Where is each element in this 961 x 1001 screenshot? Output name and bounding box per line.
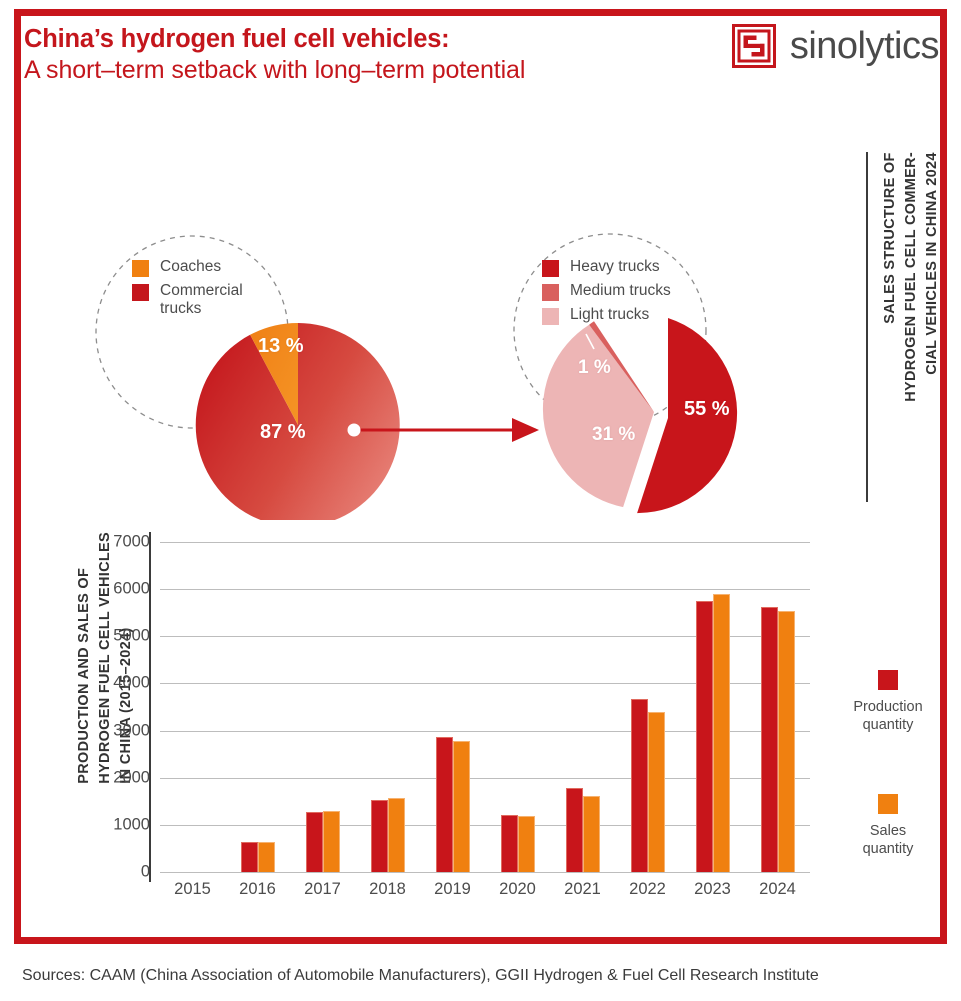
swatch-production-icon [878, 670, 898, 690]
x-axis-tick-label: 2017 [304, 880, 341, 899]
x-axis-tick-label: 2018 [369, 880, 406, 899]
bar-chart-section: PRODUCTION AND SALES OF HYDROGEN FUEL CE… [0, 520, 919, 920]
pie-exploded-group [543, 321, 654, 507]
swatch-light-trucks-icon [542, 308, 559, 325]
bar-production-2017 [306, 812, 323, 872]
bar-sales-2023 [713, 594, 730, 872]
pie-connector-dot [348, 424, 361, 437]
pct-label-heavy-trucks: 55 % [684, 398, 730, 421]
x-axis-tick-label: 2022 [629, 880, 666, 899]
y-axis-tick-label: 7000 [90, 533, 160, 552]
x-axis-tick-label: 2020 [499, 880, 536, 899]
y-axis-tick-label: 0 [90, 863, 160, 882]
pie-caption-text: SALES STRUCTURE OF HYDROGEN FUEL CELL CO… [880, 152, 943, 402]
pie-charts-section: Coaches Commercial trucks Heavy trucks M… [0, 140, 919, 520]
pct-label-medium-trucks: 1 % [578, 357, 611, 379]
legend-label-light-trucks: Light trucks [570, 306, 649, 324]
bar-chart-legend: Production quantity Sales quantity [838, 670, 938, 919]
bar-production-2022 [631, 699, 648, 872]
pie-slice-light-trucks [543, 325, 654, 507]
y-axis-tick-label: 4000 [90, 674, 160, 693]
x-axis-tick-label: 2016 [239, 880, 276, 899]
gridline [160, 542, 810, 543]
bar-production-2016 [241, 842, 258, 872]
swatch-medium-trucks-icon [542, 284, 559, 301]
x-axis-tick-label: 2019 [434, 880, 471, 899]
bar-legend-item-sales: Sales quantity [838, 794, 938, 858]
bar-production-2023 [696, 601, 713, 872]
bar-production-2020 [501, 815, 518, 872]
title-line-2: A short–term setback with long–term pote… [24, 55, 624, 87]
gridline [160, 872, 810, 873]
x-axis-tick-label: 2015 [174, 880, 211, 899]
legend-label-coaches: Coaches [160, 258, 221, 276]
bar-caption-text: PRODUCTION AND SALES OF HYDROGEN FUEL CE… [74, 532, 137, 784]
sources-footer: Sources: CAAM (China Association of Auto… [22, 967, 819, 985]
bar-chart-plot: 7000600050004000300020001000020152016201… [160, 542, 810, 872]
bar-legend-label-sales: Sales quantity [838, 822, 938, 858]
bar-sales-2016 [258, 842, 275, 872]
bar-production-2024 [761, 607, 778, 872]
right-pie-legend: Heavy trucks Medium trucks Light trucks [542, 258, 671, 330]
legend-item-commercial-trucks: Commercial trucks [132, 282, 243, 318]
pct-label-coaches: 13 % [258, 335, 304, 358]
legend-item-coaches: Coaches [132, 258, 243, 277]
swatch-coaches-icon [132, 260, 149, 277]
x-axis-tick-label: 2024 [759, 880, 796, 899]
swatch-heavy-trucks-icon [542, 260, 559, 277]
bar-sales-2017 [323, 811, 340, 872]
page-title: China’s hydrogen fuel cell vehicles: A s… [24, 24, 624, 87]
x-axis-tick-label: 2021 [564, 880, 601, 899]
pct-label-light-trucks: 31 % [592, 424, 635, 446]
caption-rule [866, 152, 868, 502]
y-axis-tick-label: 1000 [90, 815, 160, 834]
bar-production-2018 [371, 800, 388, 872]
brand-logo: sinolytics [732, 24, 939, 68]
logo-wordmark: sinolytics [790, 27, 939, 65]
pie-section-caption: SALES STRUCTURE OF HYDROGEN FUEL CELL CO… [866, 152, 943, 502]
left-pie-legend: Coaches Commercial trucks [132, 258, 243, 323]
bar-production-2019 [436, 737, 453, 872]
bar-production-2021 [566, 788, 583, 872]
sinolytics-logo-icon [732, 24, 776, 68]
swatch-commercial-trucks-icon [132, 284, 149, 301]
bar-legend-item-production: Production quantity [838, 670, 938, 734]
gridline [160, 589, 810, 590]
pies-svg [0, 140, 919, 520]
legend-label-commercial-trucks: Commercial trucks [160, 282, 243, 318]
legend-label-medium-trucks: Medium trucks [570, 282, 671, 300]
legend-label-heavy-trucks: Heavy trucks [570, 258, 660, 276]
bar-sales-2022 [648, 712, 665, 872]
legend-item-medium-trucks: Medium trucks [542, 282, 671, 301]
bar-sales-2020 [518, 816, 535, 872]
legend-item-heavy-trucks: Heavy trucks [542, 258, 671, 277]
x-axis-tick-label: 2023 [694, 880, 731, 899]
bar-legend-label-production: Production quantity [838, 698, 938, 734]
bar-sales-2019 [453, 741, 470, 872]
legend-item-light-trucks: Light trucks [542, 306, 671, 325]
y-axis-tick-label: 6000 [90, 580, 160, 599]
bar-sales-2024 [778, 611, 795, 872]
y-axis-tick-label: 2000 [90, 768, 160, 787]
y-axis-tick-label: 5000 [90, 627, 160, 646]
swatch-sales-icon [878, 794, 898, 814]
y-axis-tick-label: 3000 [90, 721, 160, 740]
title-line-1: China’s hydrogen fuel cell vehicles: [24, 24, 624, 55]
infographic-root: China’s hydrogen fuel cell vehicles: A s… [0, 0, 961, 1001]
bar-sales-2021 [583, 796, 600, 872]
pct-label-commercial-trucks: 87 % [260, 421, 306, 444]
bar-sales-2018 [388, 798, 405, 872]
